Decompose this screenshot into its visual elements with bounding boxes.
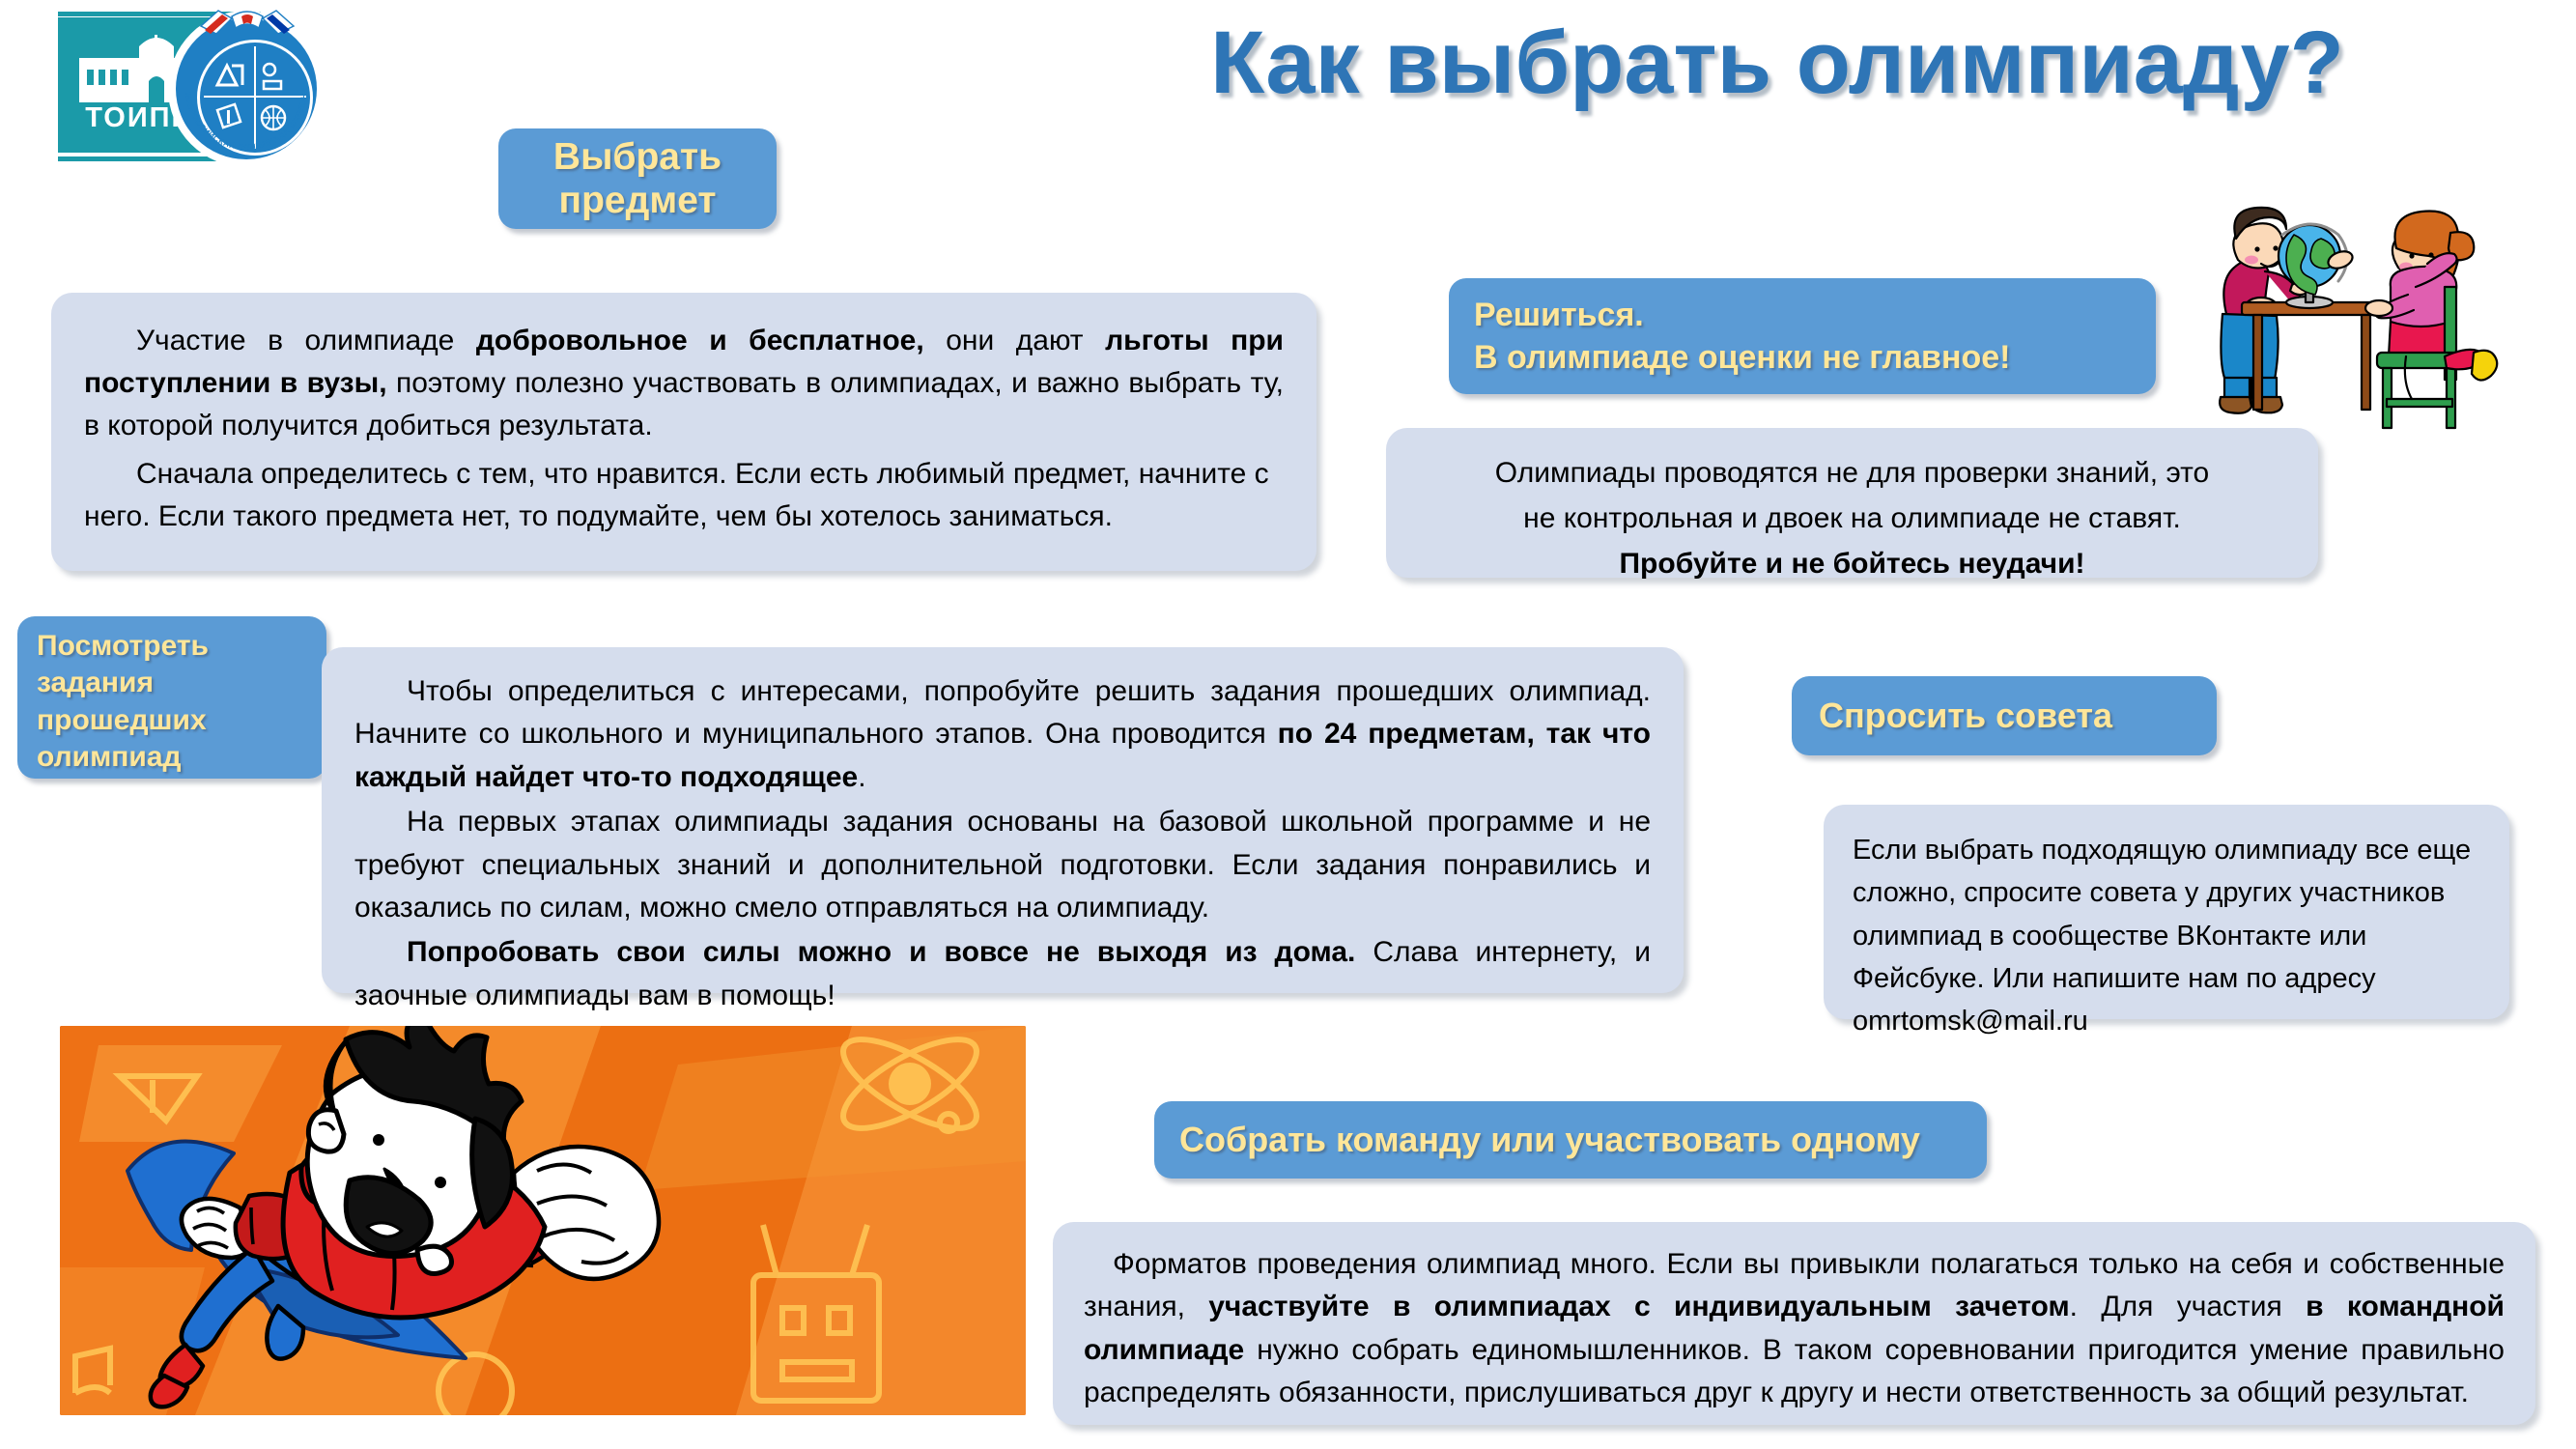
pill-decide-label: Решиться. В олимпиаде оценки не главное! xyxy=(1474,294,2011,379)
russian-flag-ribbon-icon xyxy=(199,9,296,51)
line: Олимпиады проводятся не для проверки зна… xyxy=(1415,451,2289,495)
paragraph: Чтобы определиться с интересами, попробу… xyxy=(354,670,1651,799)
panel-past-tasks: Чтобы определиться с интересами, попробу… xyxy=(322,647,1684,993)
panel-team-or-solo: Форматов проведения олимпиад много. Если… xyxy=(1053,1222,2535,1425)
pill-past-tasks[interactable]: Посмотреть задания прошедших олимпиад xyxy=(17,616,326,779)
pill-team-or-solo-label: Собрать команду или участвовать одному xyxy=(1179,1120,1920,1160)
toipkro-logo: ТОИПКРО xyxy=(46,10,326,164)
paragraph: На первых этапах олимпиады задания основ… xyxy=(354,801,1651,929)
superhero-artwork xyxy=(60,1026,1026,1415)
paragraph: Форматов проведения олимпиад много. Если… xyxy=(1084,1243,2505,1415)
paragraph: Сначала определитесь с тем, что нравится… xyxy=(84,453,1284,538)
panel-choose-subject: Участие в олимпиаде добровольное и беспл… xyxy=(51,293,1316,571)
email-address[interactable]: omrtomsk@mail.ru xyxy=(1853,1001,2480,1041)
pill-past-tasks-label: Посмотреть задания прошедших олимпиад xyxy=(37,626,209,777)
pill-decide[interactable]: Решиться. В олимпиаде оценки не главное! xyxy=(1449,278,2156,394)
line: Фейсбуке. Или напишите нам по адресу xyxy=(1853,958,2480,999)
paragraph: Участие в олимпиаде добровольное и беспл… xyxy=(84,320,1284,447)
paragraph: Попробовать свои силы можно и вовсе не в… xyxy=(354,931,1651,1017)
pill-ask-advice-label: Спросить совета xyxy=(1819,696,2112,736)
line: не контрольная и двоек на олимпиаде не с… xyxy=(1415,497,2289,540)
two-children-with-globe-illustration xyxy=(2168,179,2560,464)
flying-superhero-boy-illustration xyxy=(60,1026,1026,1415)
page-title: Как выбрать олимпиаду? xyxy=(1024,17,2531,109)
panel-ask-advice: Если выбрать подходящую олимпиаду все ещ… xyxy=(1824,805,2509,1019)
line: Пробуйте и не бойтесь неудачи! xyxy=(1415,542,2289,585)
poster-canvas: ТОИПКРО xyxy=(0,0,2576,1449)
pill-choose-subject[interactable]: Выбрать предмет xyxy=(498,128,777,229)
pill-ask-advice[interactable]: Спросить совета xyxy=(1792,676,2217,755)
line: олимпиад в сообществе ВКонтакте или xyxy=(1853,916,2480,956)
pill-choose-subject-label: Выбрать предмет xyxy=(553,135,722,222)
line: Если выбрать подходящую олимпиаду все ещ… xyxy=(1853,830,2480,870)
olympiad-seal: ВСЕРОССИЙСКАЯ ОЛИМПИАДА ШКОЛЬНИКОВ xyxy=(170,13,323,165)
line: сложно, спросите совета у других участни… xyxy=(1853,872,2480,913)
pill-team-or-solo[interactable]: Собрать команду или участвовать одному xyxy=(1154,1101,1987,1179)
